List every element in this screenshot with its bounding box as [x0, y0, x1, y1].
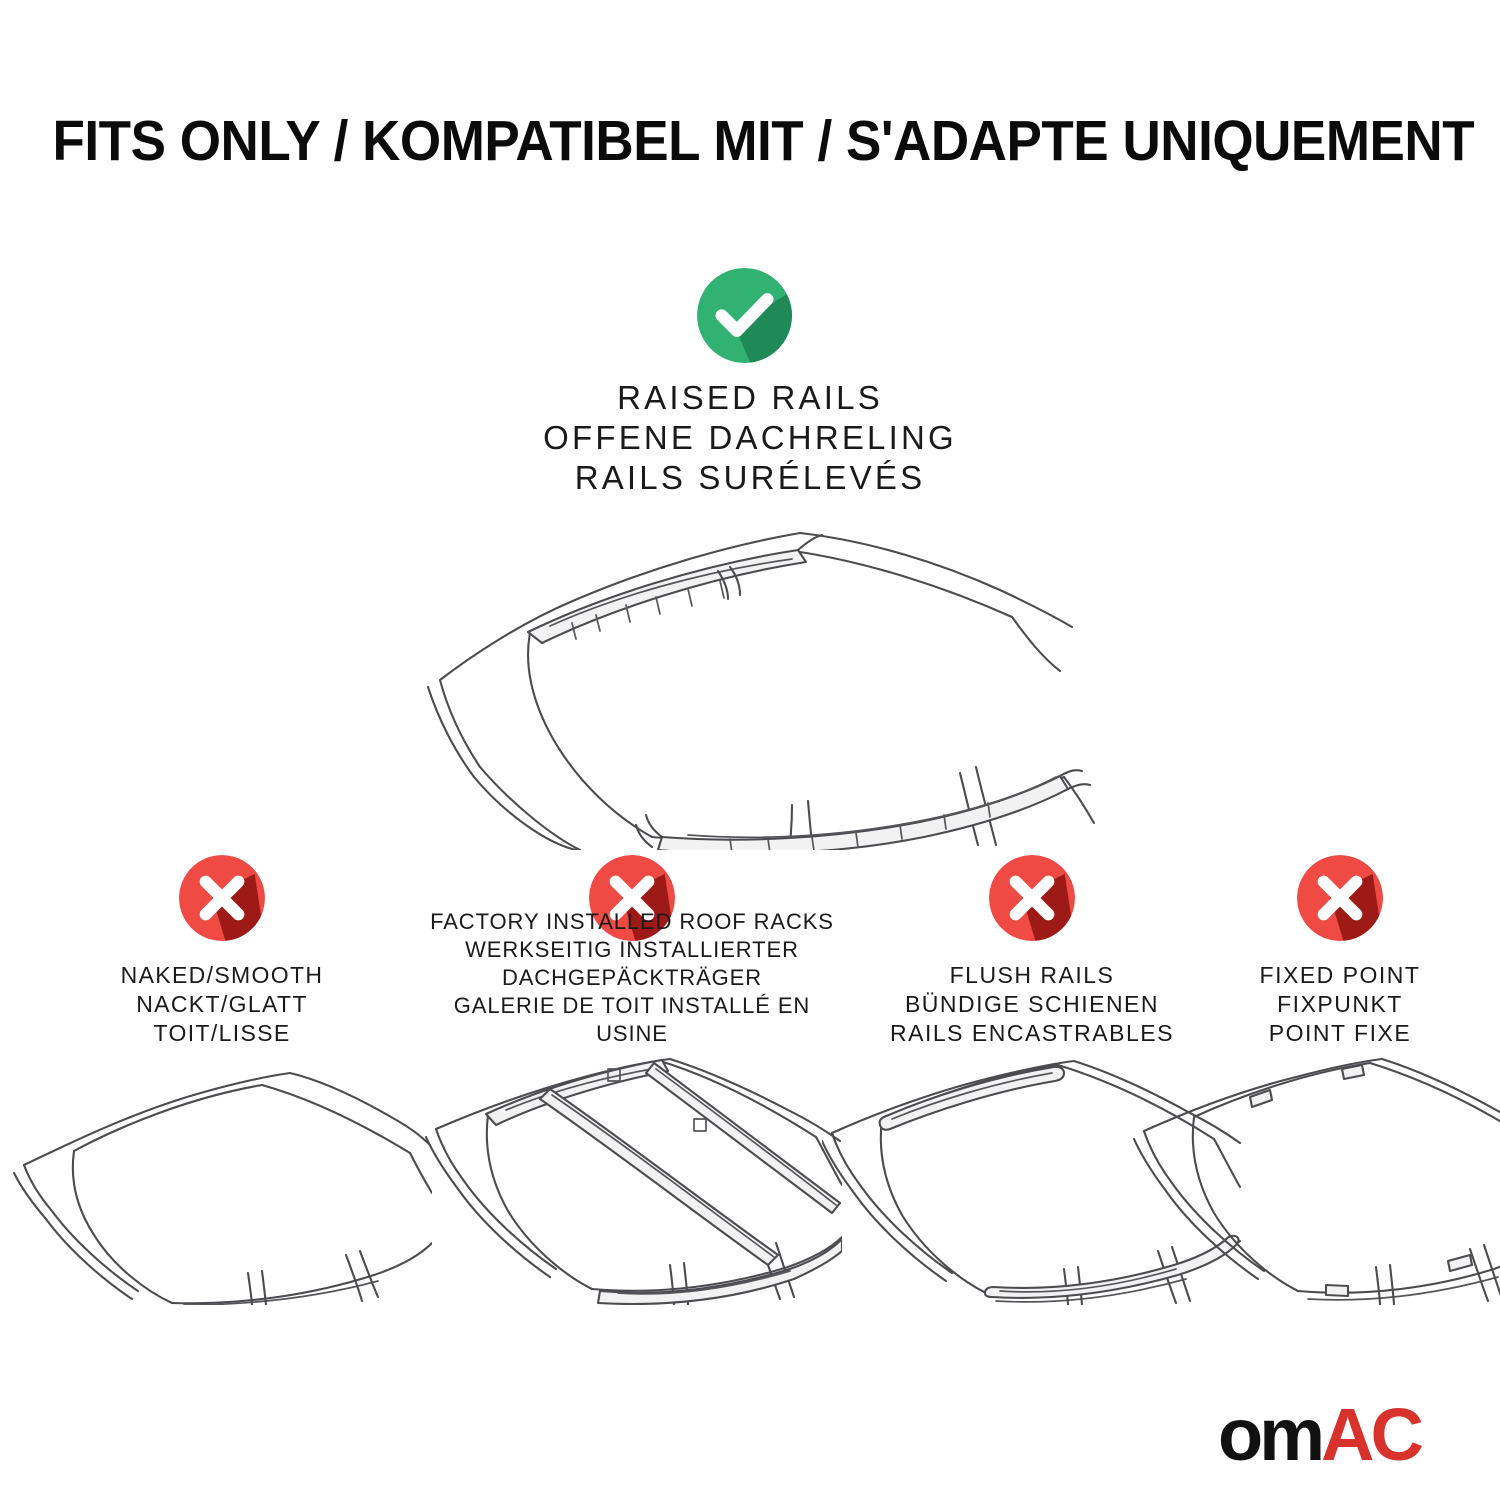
incompatible-label-factory-roof-racks: FACTORY INSTALLED ROOF RACKS WERKSEITIG …	[422, 908, 842, 1048]
car-roof-raised-rails-illustration	[400, 505, 1100, 850]
cross-circle-icon	[1297, 855, 1383, 941]
compatibility-infographic: FITS ONLY / KOMPATIBEL MIT / S'ADAPTE UN…	[0, 0, 1500, 1500]
compatible-label: RAISED RAILS OFFENE DACHRELING RAILS SUR…	[250, 378, 1250, 498]
cross-circle-icon	[179, 855, 265, 941]
car-roof-bare-illustration	[12, 1055, 432, 1305]
label-line-fr: TOIT/LISSE	[12, 1019, 432, 1048]
car-roof-factory-crossbars-illustration	[422, 1055, 842, 1305]
label-line-en: NAKED/SMOOTH	[12, 961, 432, 990]
incompatible-column-fixed-point: FIXED POINT FIXPUNKT POINT FIXE	[1130, 850, 1500, 1310]
logo-text-dark: om	[1218, 1393, 1321, 1476]
incompatible-label-naked-smooth: NAKED/SMOOTH NACKT/GLATT TOIT/LISSE	[12, 961, 432, 1048]
label-line-de-1: WERKSEITIG INSTALLIERTER	[422, 936, 842, 964]
compatible-label-line-en: RAISED RAILS	[250, 378, 1250, 418]
car-roof-fixed-point-illustration	[1130, 1055, 1500, 1305]
label-line-de: NACKT/GLATT	[12, 990, 432, 1019]
label-line-de: FIXPUNKT	[1130, 990, 1500, 1019]
compatible-label-line-de: OFFENE DACHRELING	[250, 418, 1250, 458]
label-line-en: FIXED POINT	[1130, 961, 1500, 990]
label-line-en: FACTORY INSTALLED ROOF RACKS	[422, 908, 842, 936]
cross-circle-icon	[989, 855, 1075, 941]
incompatible-column-factory-roof-racks: FACTORY INSTALLED ROOF RACKS WERKSEITIG …	[422, 850, 842, 1310]
check-circle-icon	[697, 268, 792, 363]
page-title: FITS ONLY / KOMPATIBEL MIT / S'ADAPTE UN…	[53, 108, 1448, 174]
compatible-label-line-fr: RAILS SURÉLEVÉS	[250, 458, 1250, 498]
label-line-fr: GALERIE DE TOIT INSTALLÉ EN USINE	[422, 992, 842, 1048]
label-line-de-2: DACHGEPÄCKTRÄGER	[422, 964, 842, 992]
incompatible-column-naked-smooth: NAKED/SMOOTH NACKT/GLATT TOIT/LISSE	[12, 850, 432, 1310]
incompatible-label-fixed-point: FIXED POINT FIXPUNKT POINT FIXE	[1130, 961, 1500, 1048]
omac-logo: omAC	[1218, 1398, 1420, 1472]
label-line-fr: POINT FIXE	[1130, 1019, 1500, 1048]
logo-text-accent: AC	[1321, 1393, 1420, 1476]
